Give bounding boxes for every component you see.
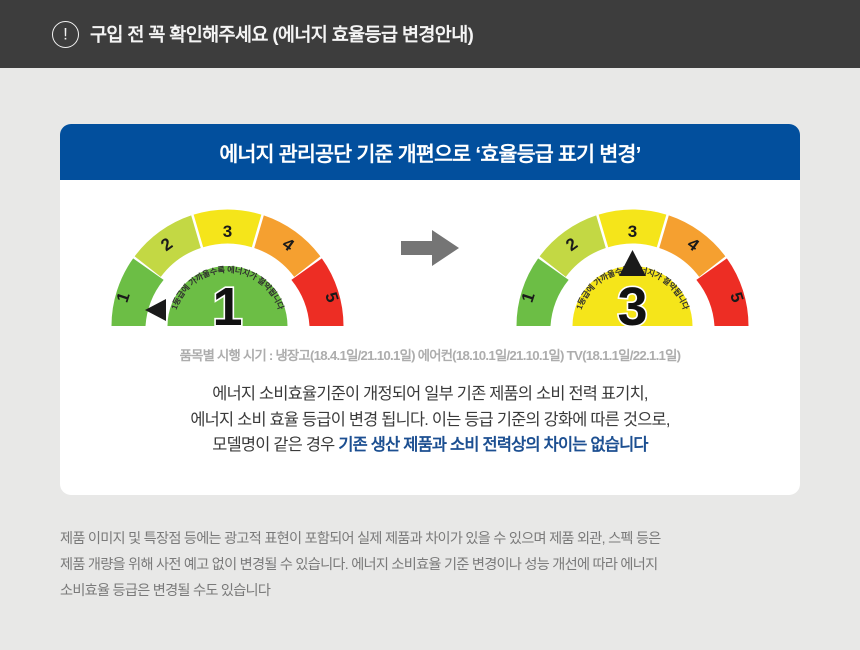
disclaimer-line-2: 제품 개량을 위해 사전 예고 없이 변경될 수 있습니다. 에너지 소비효율 … [60, 553, 800, 579]
card-header: 에너지 관리공단 기준 개편으로 ‘효율등급 표기 변경’ [60, 124, 800, 180]
after-gauge: 1 2 3 4 5 1등급에 가까울수록 에너지가 절약됩니다 3 [505, 202, 760, 332]
gauge-grade-value-after: 3 [617, 277, 647, 332]
notice-body-copy: 에너지 소비효율기준이 개정되어 일부 기존 제품의 소비 전력 표기치, 에너… [60, 382, 800, 459]
body-copy-line-3: 모델명이 같은 경우 기존 생산 제품과 소비 전력상의 차이는 없습니다 [60, 433, 800, 459]
legal-disclaimer: 제품 이미지 및 특장점 등에는 광고적 표현이 포함되어 실제 제품과 차이가… [60, 527, 800, 605]
body-copy-line-3-prefix: 모델명이 같은 경우 [212, 436, 338, 454]
gauge-grade-value-before: 1 [212, 277, 242, 332]
gauge-pointer-after [619, 250, 646, 276]
page-title: 구입 전 꼭 확인해주세요 (에너지 효율등급 변경안내) [90, 21, 473, 47]
body-copy-line-2: 에너지 소비 효율 등급이 변경 됩니다. 이는 등급 기준의 강화에 따른 것… [60, 408, 800, 434]
body-copy-line-1: 에너지 소비효율기준이 개정되어 일부 기존 제품의 소비 전력 표기치, [60, 382, 800, 408]
right-arrow-icon [399, 228, 461, 268]
exclamation-circle-icon: ! [52, 21, 79, 48]
disclaimer-line-1: 제품 이미지 및 특장점 등에는 광고적 표현이 포함되어 실제 제품과 차이가… [60, 527, 800, 553]
gauge-comparison: 1 2 3 4 5 1등급에 가까울수록 에너지가 절약됩니다 1 [60, 180, 800, 332]
card-header-title: 에너지 관리공단 기준 개편으로 ‘효율등급 표기 변경’ [219, 137, 640, 167]
page-header-bar: ! 구입 전 꼭 확인해주세요 (에너지 효율등급 변경안내) [0, 0, 860, 68]
disclaimer-line-3: 소비효율 등급은 변경될 수도 있습니다 [60, 579, 800, 605]
implementation-date-line: 품목별 시행 시기 : 냉장고(18.4.1일/21.10.1일) 에어컨(18… [60, 345, 800, 364]
body-copy-highlight: 기존 생산 제품과 소비 전력상의 차이는 없습니다 [338, 436, 647, 454]
before-gauge: 1 2 3 4 5 1등급에 가까울수록 에너지가 절약됩니다 1 [100, 202, 355, 332]
card-body: 1 2 3 4 5 1등급에 가까울수록 에너지가 절약됩니다 1 [60, 180, 800, 495]
exclamation-glyph: ! [63, 25, 68, 42]
gauge-segment-label-3: 3 [628, 222, 637, 241]
gauge-segment-label-3: 3 [223, 222, 232, 241]
notice-card: 에너지 관리공단 기준 개편으로 ‘효율등급 표기 변경’ 1 [60, 124, 800, 495]
